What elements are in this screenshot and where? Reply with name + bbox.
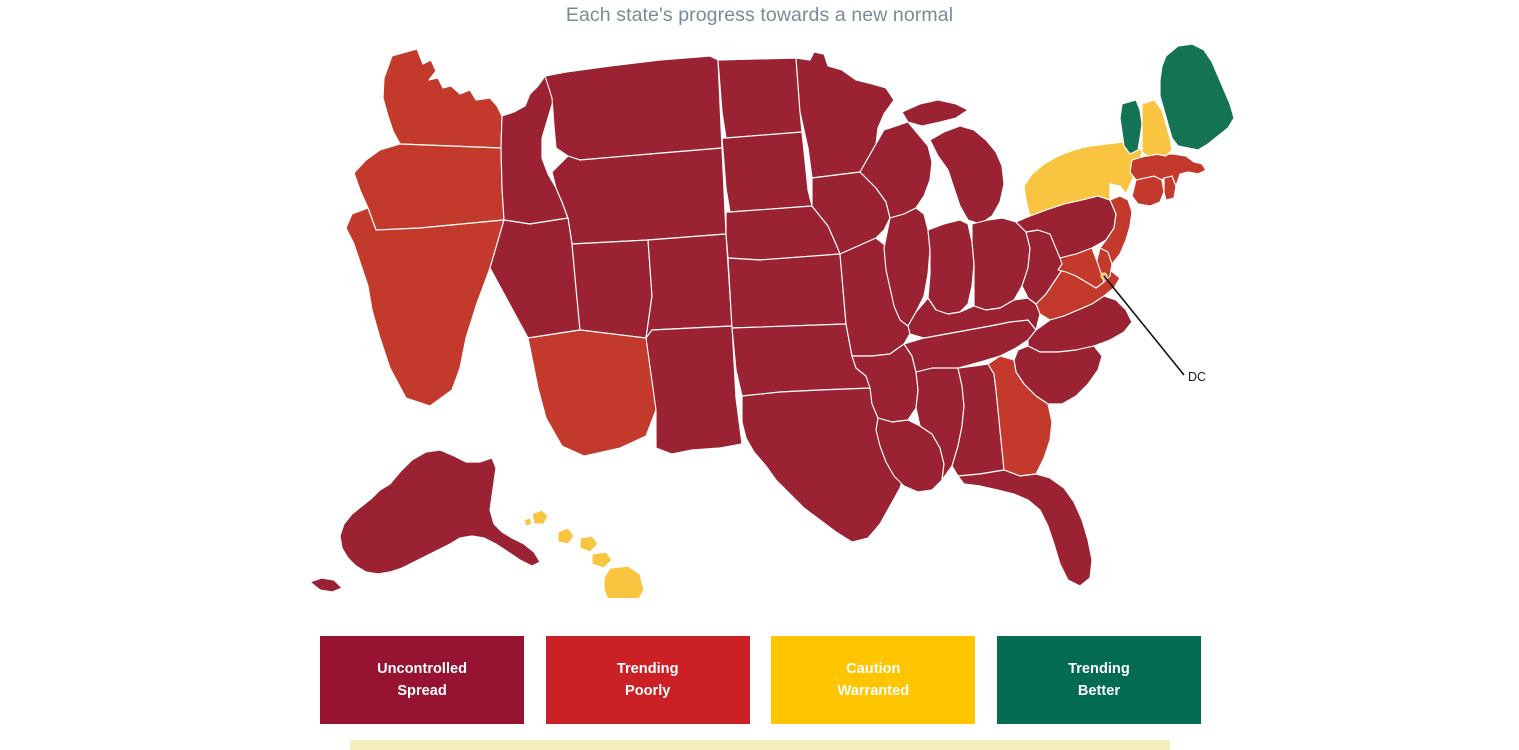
state-wyoming[interactable] (552, 148, 726, 244)
legend-item-trending-better[interactable]: Trending Better (997, 636, 1201, 724)
legend-label-line1: Caution (846, 658, 900, 681)
legend-label-line2: Warranted (837, 680, 909, 703)
legend-label-line1: Trending (617, 658, 679, 681)
map-svg: DC (280, 38, 1240, 598)
state-maine[interactable] (1160, 44, 1234, 150)
state-hawaii[interactable] (524, 510, 644, 598)
states-layer (310, 44, 1234, 598)
bottom-banner (350, 740, 1170, 750)
legend-label-line1: Trending (1068, 658, 1130, 681)
map-legend: Uncontrolled Spread Trending Poorly Caut… (320, 636, 1201, 724)
legend-item-caution-warranted[interactable]: Caution Warranted (771, 636, 975, 724)
page-title: Each state's progress towards a new norm… (0, 2, 1519, 28)
legend-item-trending-poorly[interactable]: Trending Poorly (546, 636, 750, 724)
state-southdakota[interactable] (722, 132, 812, 212)
legend-item-uncontrolled-spread[interactable]: Uncontrolled Spread (320, 636, 524, 724)
state-arizona[interactable] (528, 330, 656, 456)
state-nevada[interactable] (490, 218, 580, 338)
state-oregon[interactable] (354, 144, 504, 230)
state-montana[interactable] (545, 56, 722, 160)
state-washington[interactable] (383, 49, 502, 148)
state-newmexico[interactable] (646, 326, 742, 454)
dc-label: DC (1188, 370, 1206, 384)
legend-label-line2: Better (1078, 680, 1120, 703)
legend-label-line1: Uncontrolled (377, 658, 467, 681)
state-colorado[interactable] (646, 234, 732, 338)
state-florida[interactable] (958, 470, 1092, 586)
legend-label-line2: Spread (397, 680, 446, 703)
state-kansas[interactable] (728, 254, 846, 328)
us-choropleth-map: DC (280, 38, 1240, 598)
legend-label-line2: Poorly (625, 680, 670, 703)
state-alaska[interactable] (310, 450, 540, 592)
state-indiana[interactable] (928, 220, 974, 314)
state-utah[interactable] (572, 240, 652, 338)
state-ohio[interactable] (972, 218, 1030, 310)
state-connecticut[interactable] (1132, 176, 1164, 206)
state-california[interactable] (346, 208, 504, 406)
state-northdakota[interactable] (718, 58, 802, 138)
page-root: Each state's progress towards a new norm… (0, 0, 1519, 750)
